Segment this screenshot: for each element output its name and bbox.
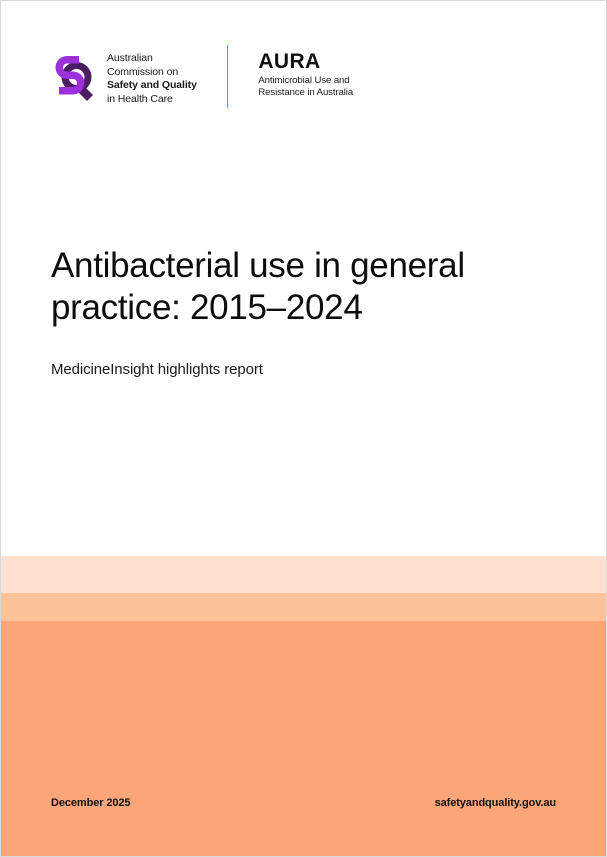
aura-title: AURA — [258, 50, 353, 73]
aura-subtitle-line-1: Antimicrobial Use and — [258, 75, 353, 87]
color-band-dark — [1, 621, 606, 856]
title-block: Antibacterial use in general practice: 2… — [51, 245, 551, 380]
commission-line-4: in Health Care — [107, 93, 197, 107]
aura-subtitle: Antimicrobial Use and Resistance in Aust… — [258, 75, 353, 100]
organisation-website[interactable]: safetyandquality.gov.au — [435, 797, 556, 809]
page-title: Antibacterial use in general practice: 2… — [51, 245, 551, 329]
commission-line-2: Commission on — [107, 66, 197, 80]
color-band-light — [1, 556, 606, 593]
aura-brand-block: AURA Antimicrobial Use and Resistance in… — [258, 45, 353, 100]
logo-lockup: Australian Commission on Safety and Qual… — [49, 45, 353, 111]
commission-name-block: Australian Commission on Safety and Qual… — [107, 45, 197, 106]
aura-subtitle-line-2: Resistance in Australia — [258, 87, 353, 99]
document-cover-page: Australian Commission on Safety and Qual… — [0, 0, 607, 857]
color-band-medium — [1, 593, 606, 621]
logo-divider — [227, 45, 229, 108]
commission-line-1: Australian — [107, 52, 197, 66]
page-subtitle: MedicineInsight highlights report — [51, 329, 551, 380]
publication-date: December 2025 — [51, 797, 130, 809]
commission-line-3: Safety and Quality — [107, 79, 197, 93]
acsqhc-sq-monogram-logo-icon — [49, 45, 97, 105]
footer: December 2025 safetyandquality.gov.au — [51, 797, 556, 809]
